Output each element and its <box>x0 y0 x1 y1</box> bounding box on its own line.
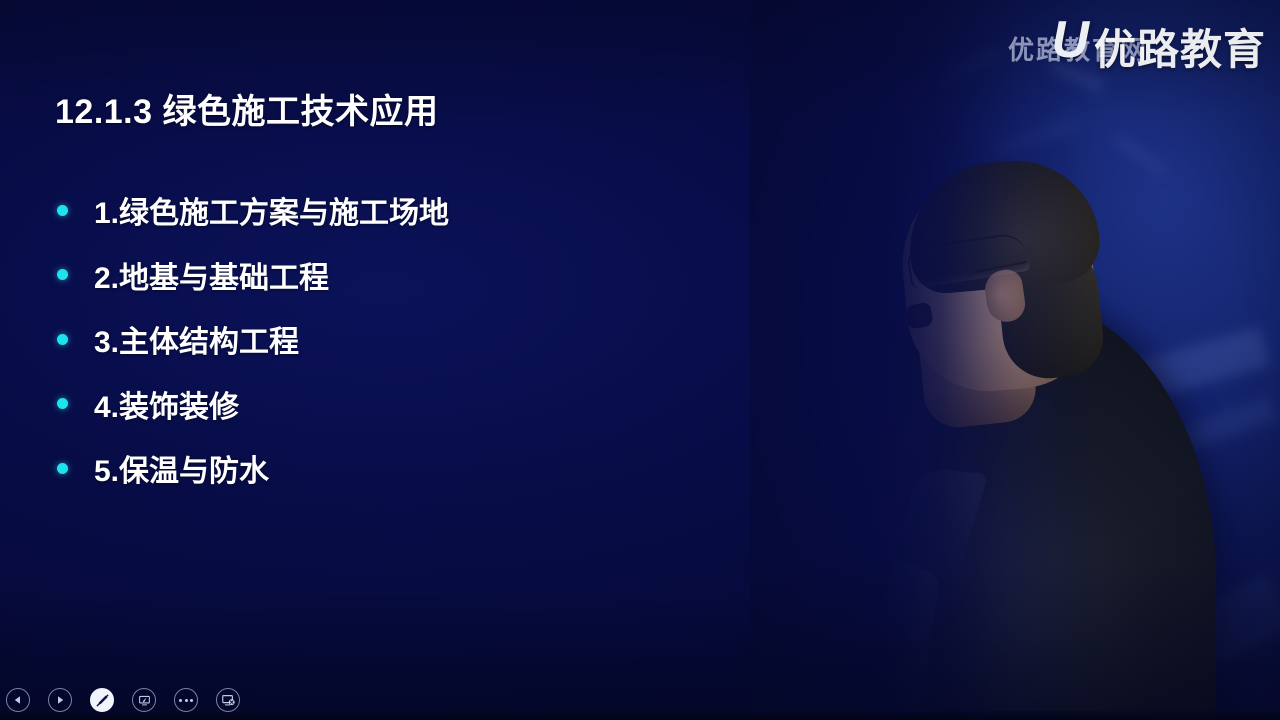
end-show-button[interactable] <box>216 688 240 712</box>
list-item: 5.保温与防水 <box>55 436 755 501</box>
slide-title: 12.1.3 绿色施工技术应用 <box>55 84 438 133</box>
ellipsis-icon <box>179 699 193 702</box>
previous-slide-button[interactable] <box>6 688 30 712</box>
bullet-dot-icon <box>57 269 68 280</box>
bullet-dot-icon <box>57 398 68 409</box>
list-item: 1.绿色施工方案与施工场地 <box>55 178 755 243</box>
video-vignette <box>750 0 1280 720</box>
bullet-dot-icon <box>57 334 68 345</box>
list-item-label: 3.主体结构工程 <box>94 317 299 361</box>
list-item-label: 1.绿色施工方案与施工场地 <box>94 188 449 232</box>
pen-tool-button[interactable] <box>90 688 114 712</box>
list-item: 4.装饰装修 <box>55 372 755 437</box>
list-item: 3.主体结构工程 <box>55 307 755 372</box>
list-item-label: 4.装饰装修 <box>94 382 239 426</box>
laser-pointer-button[interactable] <box>132 688 156 712</box>
bullet-dot-icon <box>57 205 68 216</box>
slide-bullet-list: 1.绿色施工方案与施工场地 2.地基与基础工程 3.主体结构工程 4.装饰装修 … <box>55 178 755 501</box>
presentation-viewer: 12.1.3 绿色施工技术应用 1.绿色施工方案与施工场地 2.地基与基础工程 … <box>0 0 1280 720</box>
bullet-dot-icon <box>57 463 68 474</box>
slideshow-control-bar <box>6 686 240 714</box>
presenter-video-panel <box>750 0 1280 720</box>
more-options-button[interactable] <box>174 688 198 712</box>
list-item: 2.地基与基础工程 <box>55 243 755 308</box>
list-item-label: 2.地基与基础工程 <box>94 253 329 297</box>
list-item-label: 5.保温与防水 <box>94 446 269 490</box>
next-slide-button[interactable] <box>48 688 72 712</box>
